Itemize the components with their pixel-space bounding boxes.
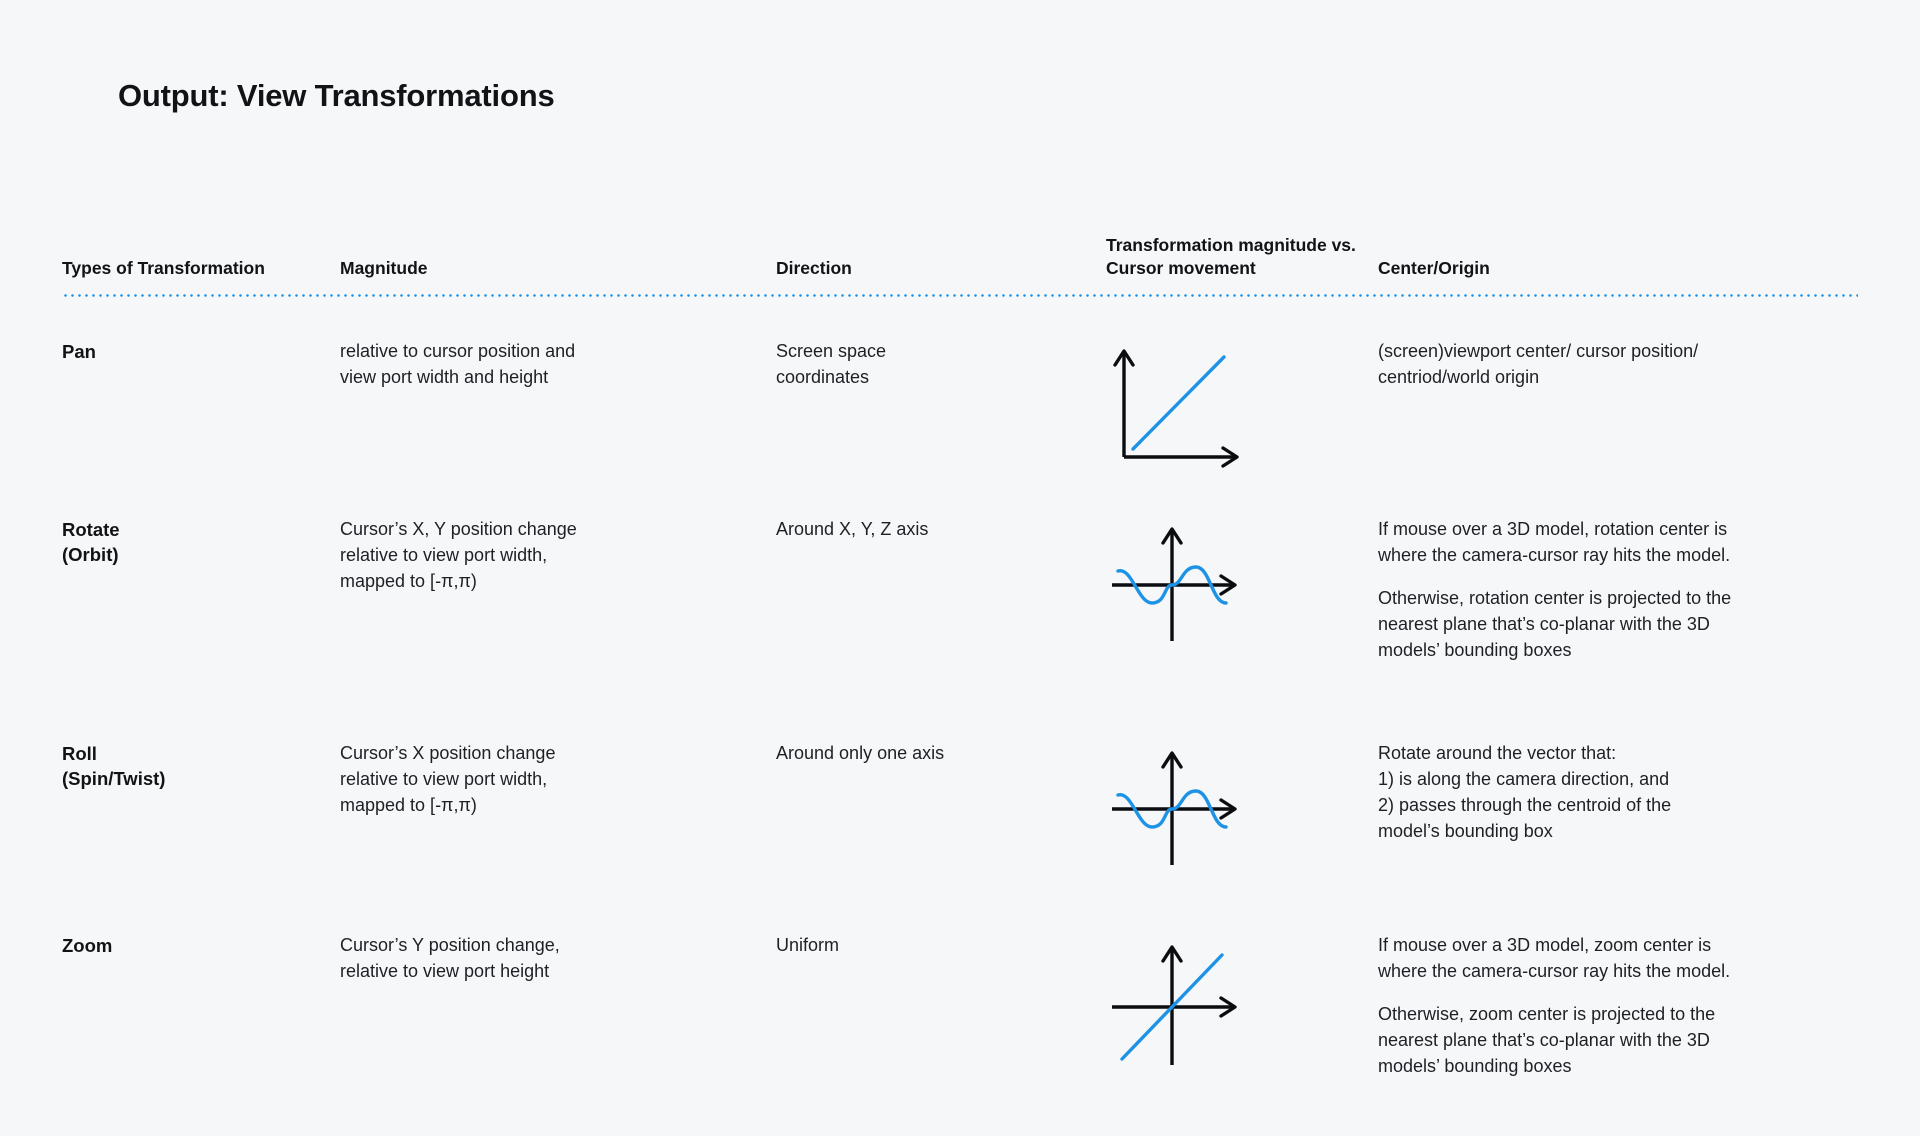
- table-header-row: Types of Transformation Magnitude Direct…: [62, 198, 1858, 282]
- row-magnitude-cell: relative to cursor position and view por…: [340, 339, 776, 391]
- table-row: Pan relative to cursor position and view…: [62, 297, 1858, 479]
- table-row: Roll (Spin/Twist) Cursor’s X position ch…: [62, 703, 1858, 895]
- table-row: Rotate (Orbit) Cursor’s X, Y position ch…: [62, 479, 1858, 703]
- row-center-origin-cell: If mouse over a 3D model, rotation cente…: [1378, 517, 1858, 664]
- row-center-origin-cell: (screen)viewport center/ cursor position…: [1378, 339, 1858, 391]
- row-direction-cell: Screen space coordinates: [776, 339, 1106, 391]
- cross-axes-diagonal-icon: [1106, 933, 1256, 1073]
- center-origin-paragraph: Rotate around the vector that: 1) is alo…: [1378, 741, 1858, 845]
- transformation-name: Zoom: [62, 933, 322, 958]
- row-type-cell: Pan: [62, 339, 340, 364]
- column-header-transformation-magnitude-vs-cursor-movement: Transformation magnitude vs. Cursor move…: [1106, 234, 1378, 282]
- row-graph-cell: [1106, 339, 1378, 469]
- center-origin-paragraph: If mouse over a 3D model, zoom center is…: [1378, 933, 1858, 985]
- center-origin-paragraph: Otherwise, rotation center is projected …: [1378, 586, 1858, 664]
- row-direction-cell: Uniform: [776, 933, 1106, 959]
- row-graph-cell: [1106, 741, 1378, 871]
- row-type-cell: Rotate (Orbit): [62, 517, 340, 567]
- row-type-cell: Zoom: [62, 933, 340, 958]
- row-center-origin-cell: Rotate around the vector that: 1) is alo…: [1378, 741, 1858, 845]
- row-magnitude-cell: Cursor’s X, Y position change relative t…: [340, 517, 776, 595]
- center-origin-paragraph: Otherwise, zoom center is projected to t…: [1378, 1002, 1858, 1080]
- page-title: Output: View Transformations: [118, 78, 554, 114]
- direction-text: Around X, Y, Z axis: [776, 517, 1088, 543]
- magnitude-text: Cursor’s X, Y position change relative t…: [340, 517, 758, 595]
- row-direction-cell: Around X, Y, Z axis: [776, 517, 1106, 543]
- magnitude-text: relative to cursor position and view por…: [340, 339, 758, 391]
- cross-axes-sine-wave-icon: [1106, 741, 1256, 871]
- row-magnitude-cell: Cursor’s Y position change, relative to …: [340, 933, 776, 985]
- direction-text: Around only one axis: [776, 741, 1088, 767]
- table-row: Zoom Cursor’s Y position change, relativ…: [62, 895, 1858, 1093]
- row-direction-cell: Around only one axis: [776, 741, 1106, 767]
- center-origin-paragraph: If mouse over a 3D model, rotation cente…: [1378, 517, 1858, 569]
- row-graph-cell: [1106, 517, 1378, 647]
- center-origin-paragraph: (screen)viewport center/ cursor position…: [1378, 339, 1858, 391]
- transformation-name: Rotate: [62, 517, 322, 542]
- direction-text: Uniform: [776, 933, 1088, 959]
- transformation-alt-name: (Orbit): [62, 542, 322, 567]
- magnitude-text: Cursor’s X position change relative to v…: [340, 741, 758, 819]
- row-magnitude-cell: Cursor’s X position change relative to v…: [340, 741, 776, 819]
- column-header-magnitude: Magnitude: [340, 257, 776, 282]
- column-header-direction: Direction: [776, 257, 1106, 282]
- magnitude-text: Cursor’s Y position change, relative to …: [340, 933, 758, 985]
- transformation-name: Pan: [62, 339, 322, 364]
- page-root: Output: View Transformations Types of Tr…: [0, 0, 1920, 1136]
- row-center-origin-cell: If mouse over a 3D model, zoom center is…: [1378, 933, 1858, 1080]
- transformations-table: Types of Transformation Magnitude Direct…: [62, 198, 1858, 1093]
- direction-text: Screen space coordinates: [776, 339, 1088, 391]
- transformation-alt-name: (Spin/Twist): [62, 766, 322, 791]
- column-header-types-of-transformation: Types of Transformation: [62, 257, 340, 282]
- transformation-name: Roll: [62, 741, 322, 766]
- row-type-cell: Roll (Spin/Twist): [62, 741, 340, 791]
- row-graph-cell: [1106, 933, 1378, 1073]
- cross-axes-sine-wave-icon: [1106, 517, 1256, 647]
- column-header-center-origin: Center/Origin: [1378, 257, 1858, 282]
- quadrant-axes-rising-diagonal-icon: [1106, 339, 1256, 469]
